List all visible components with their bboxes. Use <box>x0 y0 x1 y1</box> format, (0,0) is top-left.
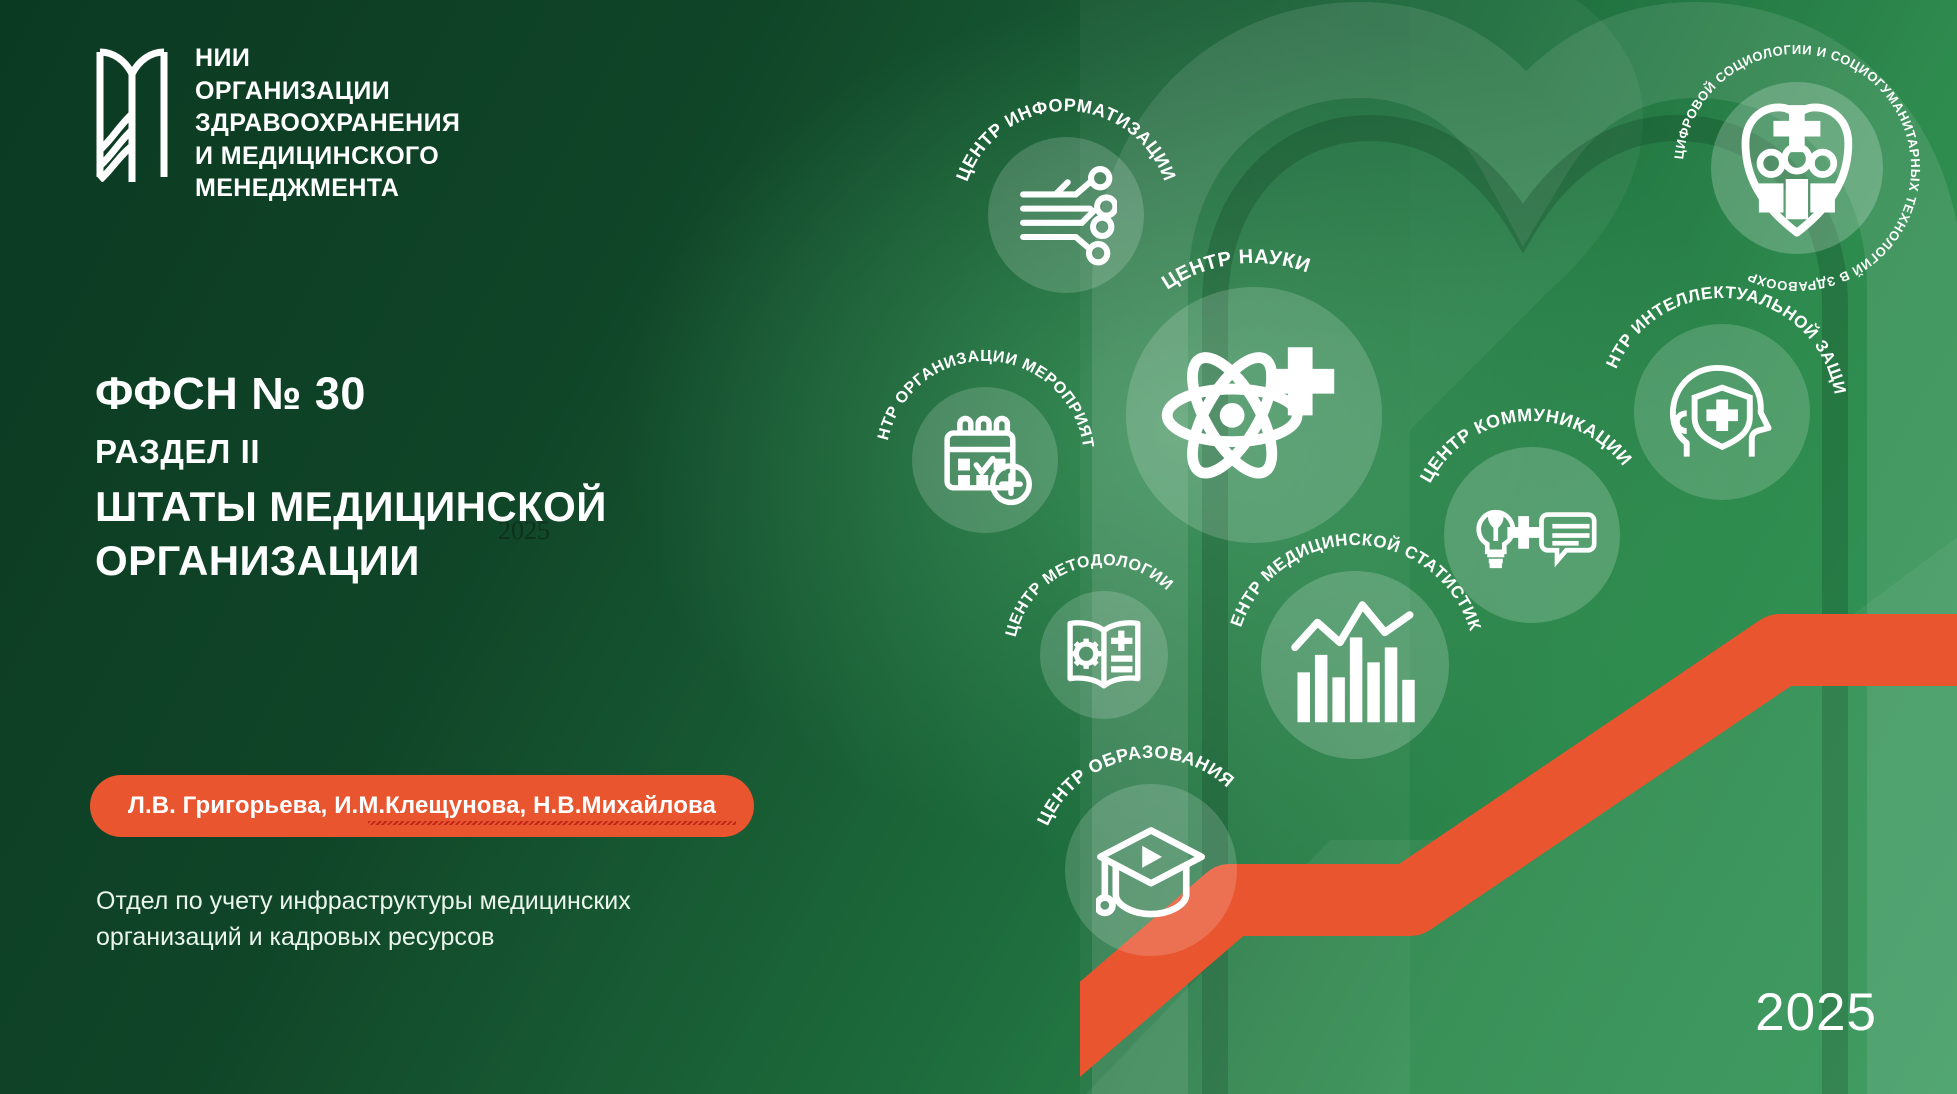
badge-label-ring: ЦЕНТР ЦИФРОВОЙ СОЦИОЛОГИИ И СОЦИОГУМАНИТ… <box>1649 20 1945 316</box>
svg-text:ЦЕНТР ОБРАЗОВАНИЯ: ЦЕНТР ОБРАЗОВАНИЯ <box>1033 742 1238 829</box>
logo-line-4: И МЕДИЦИНСКОГО <box>195 140 460 173</box>
slide-canvas: НИИ ОРГАНИЗАЦИИ ЗДРАВООХРАНЕНИЯ И МЕДИЦИ… <box>0 0 1957 1094</box>
spellcheck-underline <box>368 821 736 825</box>
badge-label-ring: ЦЕНТР ОБРАЗОВАНИЯ <box>1005 724 1297 1016</box>
section-subtitle: РАЗДЕЛ II <box>95 435 895 470</box>
badge-centr-cifrovoy-sociologii[interactable]: ЦЕНТР ЦИФРОВОЙ СОЦИОЛОГИИ И СОЦИОГУМАНИТ… <box>1649 20 1945 316</box>
left-content-column: НИИ ОРГАНИЗАЦИИ ЗДРАВООХРАНЕНИЯ И МЕДИЦИ… <box>0 0 980 1094</box>
badge-label: ЦЕНТР ОРГАНИЗАЦИИ МЕРОПРИЯТИЙ <box>846 312 1096 449</box>
badge-label: ЦЕНТР ЦИФРОВОЙ СОЦИОЛОГИИ И СОЦИОГУМАНИТ… <box>1644 8 1923 294</box>
department-label: Отдел по учету инфраструктуры медицински… <box>96 884 736 955</box>
logo-line-3: ЗДРАВООХРАНЕНИЯ <box>195 107 460 140</box>
year-label: 2025 <box>1755 982 1877 1043</box>
logo-line-5: МЕНЕДЖМЕНТА <box>195 172 460 205</box>
authors-pill[interactable]: Л.В. Григорьева, И.М.Клещунова, Н.В.Миха… <box>90 775 754 837</box>
page-title: ШТАТЫ МЕДИЦИНСКОЙ ОРГАНИЗАЦИИ <box>95 480 715 588</box>
badge-centr-obrazovaniya[interactable]: ЦЕНТР ОБРАЗОВАНИЯ <box>1005 724 1297 1016</box>
svg-text:ЦЕНТР ОРГАНИЗАЦИИ МЕРОПРИЯТИЙ: ЦЕНТР ОРГАНИЗАЦИИ МЕРОПРИЯТИЙ <box>846 312 1096 449</box>
svg-text:ЦЕНТР НАУКИ: ЦЕНТР НАУКИ <box>1158 246 1313 294</box>
badge-label: ЦЕНТР ОБРАЗОВАНИЯ <box>1033 742 1238 829</box>
badge-label: ЦЕНТР МЕТОДОЛОГИИ <box>1003 552 1176 639</box>
authors-label: Л.В. Григорьева, И.М.Клещунова, Н.В.Миха… <box>128 792 716 820</box>
svg-text:ЦЕНТР ИНФОРМАТИЗАЦИИ: ЦЕНТР ИНФОРМАТИЗАЦИИ <box>952 95 1179 184</box>
form-number-title: ФФСН № 30 <box>95 370 895 417</box>
badge-label: ЦЕНТР НАУКИ <box>1158 246 1313 294</box>
badge-label: ЦЕНТР ИНФОРМАТИЗАЦИИ <box>952 95 1179 184</box>
svg-text:ЦЕНТР ЦИФРОВОЙ СОЦИОЛОГИИ И СО: ЦЕНТР ЦИФРОВОЙ СОЦИОЛОГИИ И СОЦИОГУМАНИТ… <box>1644 8 1923 294</box>
logo-text-lines: НИИ ОРГАНИЗАЦИИ ЗДРАВООХРАНЕНИЯ И МЕДИЦИ… <box>195 42 460 205</box>
book-mark-icon <box>95 42 169 182</box>
logo-line-2: ОРГАНИЗАЦИИ <box>195 75 460 108</box>
organization-logo: НИИ ОРГАНИЗАЦИИ ЗДРАВООХРАНЕНИЯ И МЕДИЦИ… <box>95 42 460 205</box>
svg-text:ЦЕНТР МЕТОДОЛОГИИ: ЦЕНТР МЕТОДОЛОГИИ <box>1003 552 1176 639</box>
ghost-year-overlay: 2025 <box>498 516 550 546</box>
logo-line-1: НИИ <box>195 42 460 75</box>
title-block: ФФСН № 30 РАЗДЕЛ II ШТАТЫ МЕДИЦИНСКОЙ ОР… <box>95 370 895 587</box>
